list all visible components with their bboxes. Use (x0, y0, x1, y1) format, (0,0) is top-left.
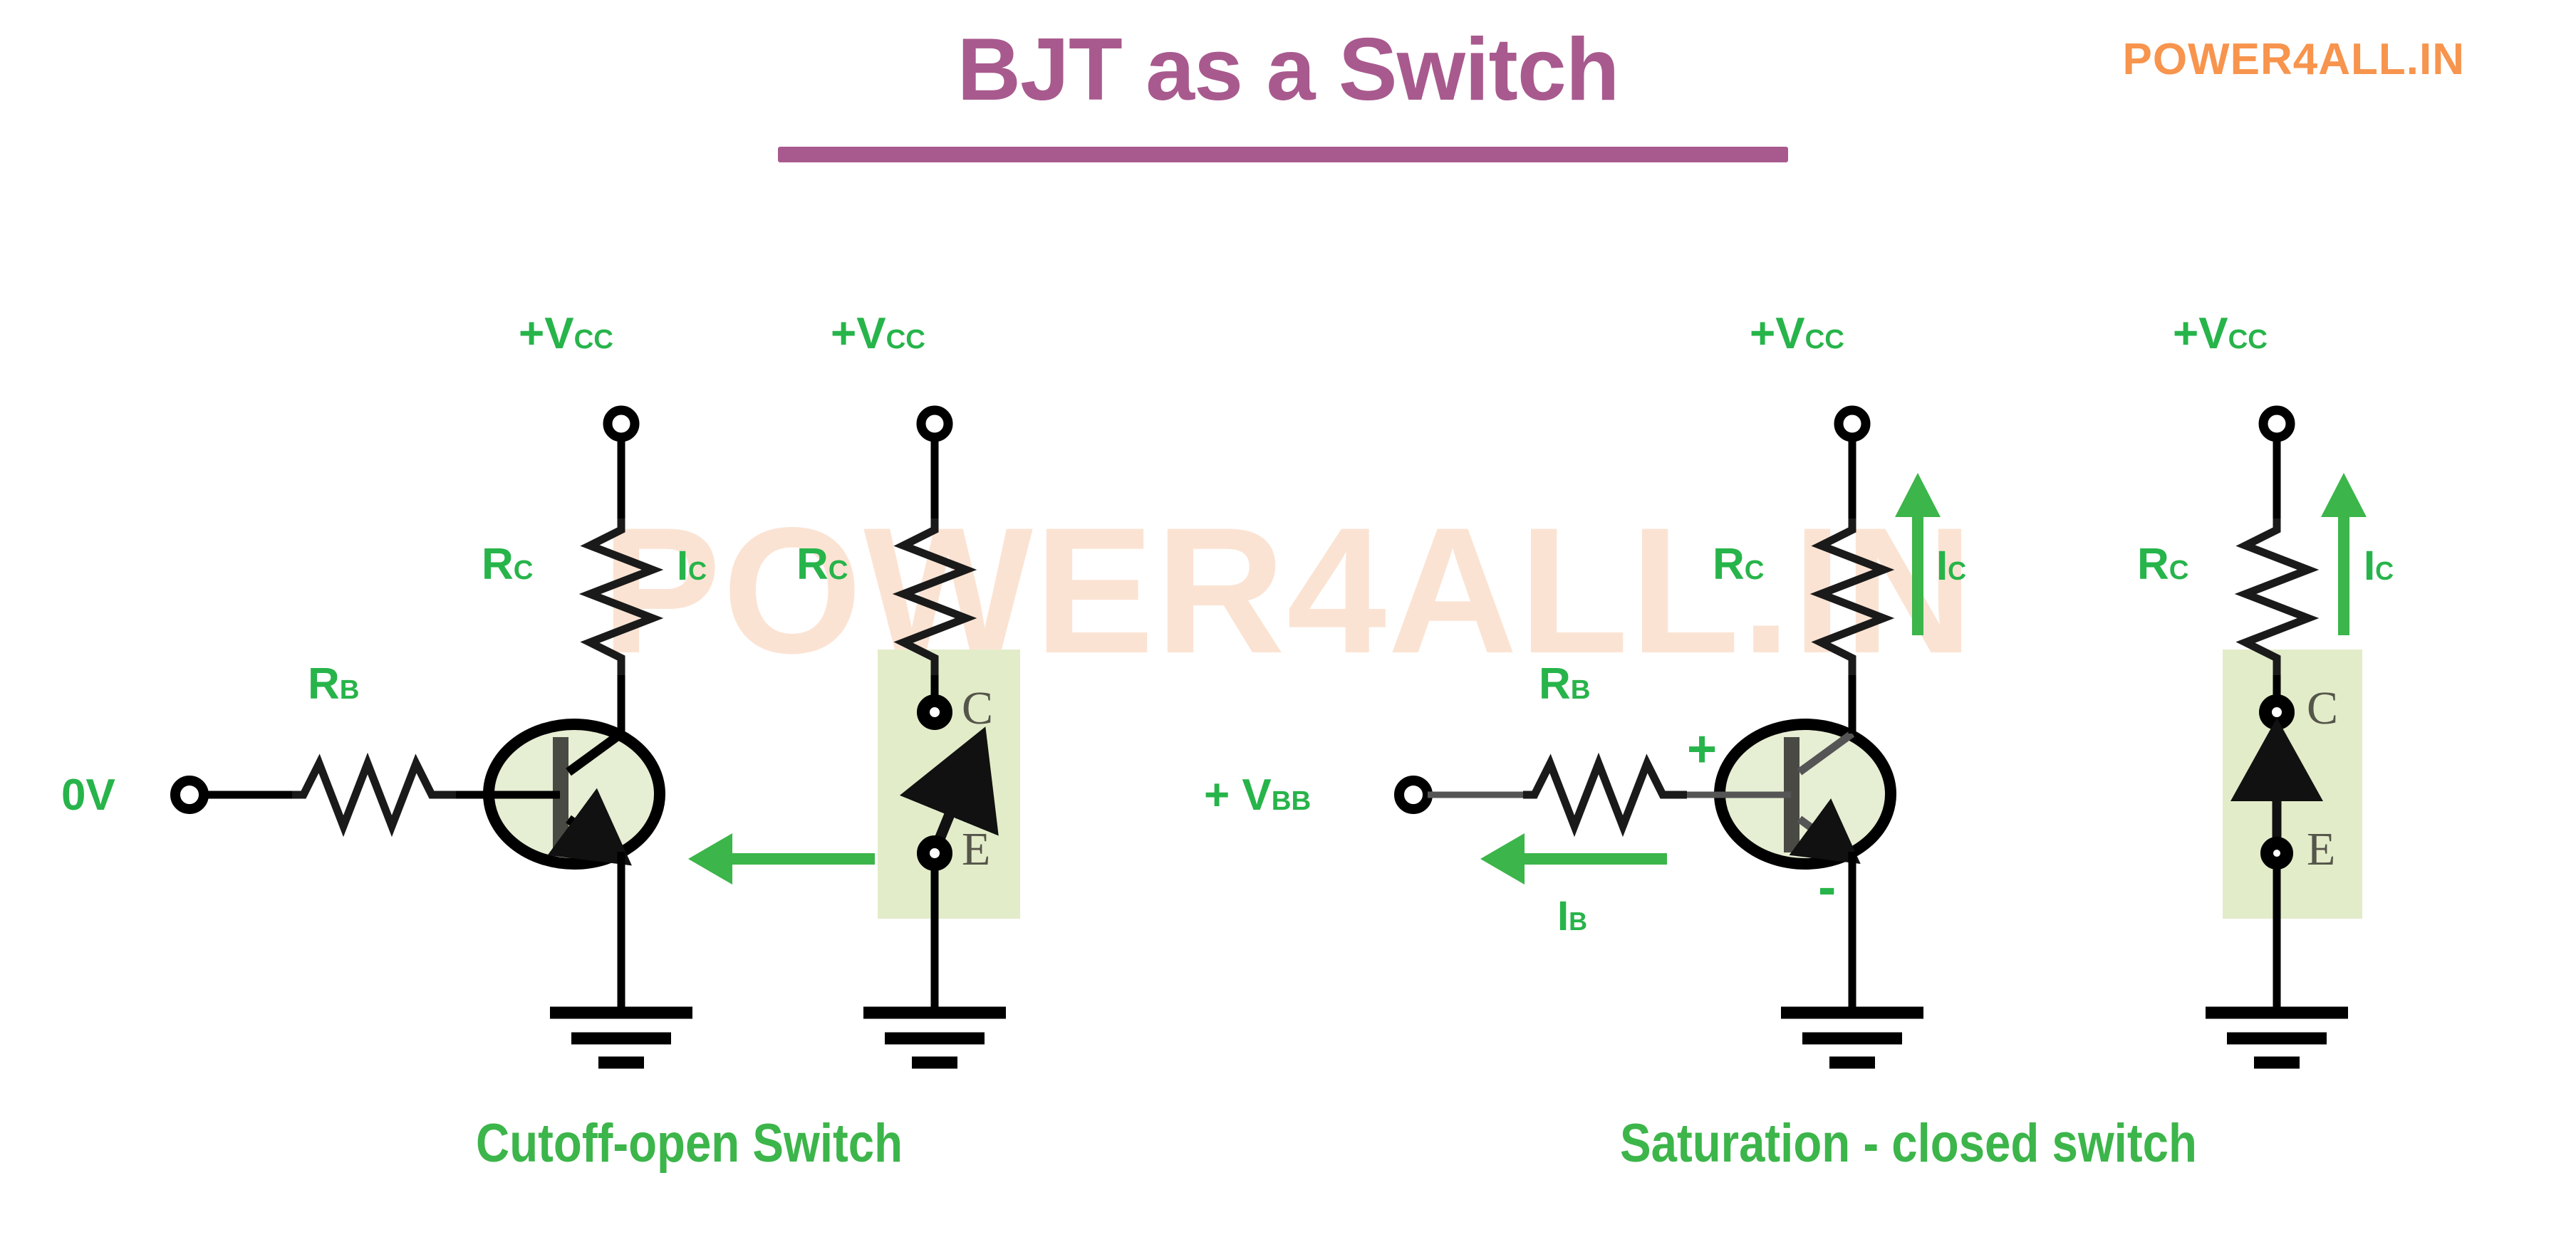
vcc-terminal-node (921, 410, 948, 437)
label-rc-4: RC (2137, 543, 2189, 587)
label-vcc-4: +VCC (2173, 312, 2268, 356)
caption-left: Cutoff-open Switch (476, 1117, 903, 1171)
input-terminal-node (1399, 781, 1428, 809)
arrow-ib-saturation (1480, 833, 1667, 885)
resistor-rb (292, 763, 456, 826)
terminal-label-collector-2: C (2307, 685, 2338, 732)
label-rb-2: RB (1539, 662, 1591, 706)
label-input-0v: 0V (61, 773, 115, 818)
polarity-minus: - (1818, 860, 1836, 914)
terminal-label-emitter-2: E (2307, 826, 2335, 873)
label-rc-3: RC (1713, 543, 1765, 587)
label-input-vbb: + VBB (1204, 773, 1311, 818)
label-rb-1: RB (308, 662, 360, 706)
input-terminal-node (175, 781, 204, 809)
label-vcc-1: +VCC (519, 312, 613, 356)
emitter-node (923, 842, 946, 865)
resistor-rc (590, 518, 653, 675)
switch-highlight-box (2223, 650, 2362, 919)
arrow-left-cutoff (688, 833, 875, 885)
label-ic-2: IC (1936, 546, 1966, 587)
arrow-ic-saturation (1895, 473, 1941, 635)
circuit-cutoff-transistor (175, 410, 692, 1063)
terminal-label-emitter-1: E (962, 826, 990, 873)
vcc-terminal-node (608, 410, 635, 437)
collector-node (923, 701, 946, 724)
emitter-node (2267, 843, 2287, 863)
label-vcc-3: +VCC (1750, 312, 1844, 356)
diagram-canvas: BJT as a Switch POWER4ALL.IN POWER4ALL.I… (0, 0, 2576, 1257)
label-ib: IB (1557, 896, 1587, 937)
caption-right: Saturation - closed switch (1620, 1117, 2197, 1171)
label-ic-1: IC (677, 546, 707, 587)
resistor-rb (1523, 763, 1687, 826)
label-vcc-2: +VCC (831, 312, 925, 356)
circuit-saturation-transistor (1399, 410, 1941, 1063)
circuit-saturation-switch (2206, 410, 2367, 1063)
circuit-artwork (0, 0, 2576, 1257)
polarity-plus: + (1687, 724, 1717, 775)
arrow-ic-closed (2321, 473, 2367, 635)
label-rc-2: RC (796, 543, 848, 587)
terminal-label-collector-1: C (962, 685, 993, 732)
vcc-terminal-node (1839, 410, 1866, 437)
label-ic-3: IC (2364, 546, 2394, 587)
vcc-terminal-node (2263, 410, 2290, 437)
resistor-rc (1821, 518, 1884, 675)
collector-node (2265, 701, 2288, 724)
circuit-cutoff-switch (688, 410, 1020, 1063)
switch-highlight-box (878, 650, 1020, 919)
label-rc-1: RC (482, 543, 534, 587)
